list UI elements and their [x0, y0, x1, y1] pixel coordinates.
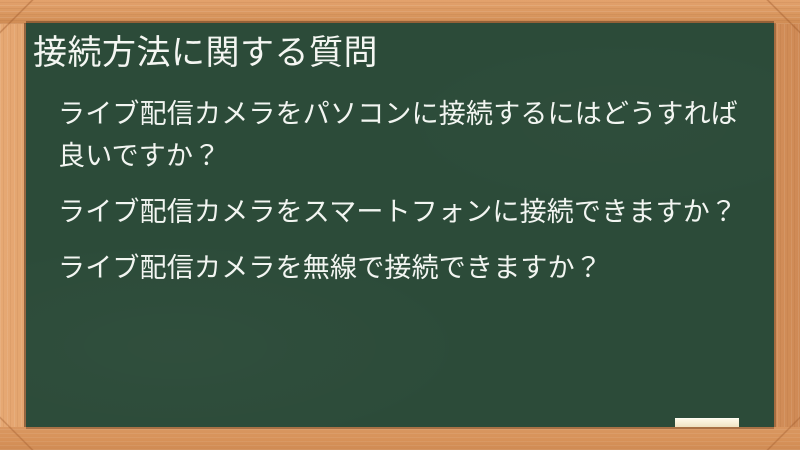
chalkboard-slide: 接続方法に関する質問 ライブ配信カメラをパソコンに接続するにはどうすれば良いです… — [0, 0, 800, 450]
question-list: ライブ配信カメラをパソコンに接続するにはどうすれば良いですか？ ライブ配信カメラ… — [45, 93, 748, 289]
chalkboard-content: 接続方法に関する質問 ライブ配信カメラをパソコンに接続するにはどうすれば良いです… — [26, 23, 774, 427]
chalk-stick-icon — [675, 418, 739, 427]
page-title: 接続方法に関する質問 — [33, 30, 378, 76]
list-item: ライブ配信カメラをスマートフォンに接続できますか？ — [45, 191, 748, 233]
list-item: ライブ配信カメラをパソコンに接続するにはどうすれば良いですか？ — [45, 93, 748, 177]
frame-rail-top — [0, 0, 800, 24]
chalkboard-surface: 接続方法に関する質問 ライブ配信カメラをパソコンに接続するにはどうすれば良いです… — [26, 23, 774, 427]
frame-rail-bottom — [0, 427, 800, 450]
list-item: ライブ配信カメラを無線で接続できますか？ — [45, 247, 748, 289]
